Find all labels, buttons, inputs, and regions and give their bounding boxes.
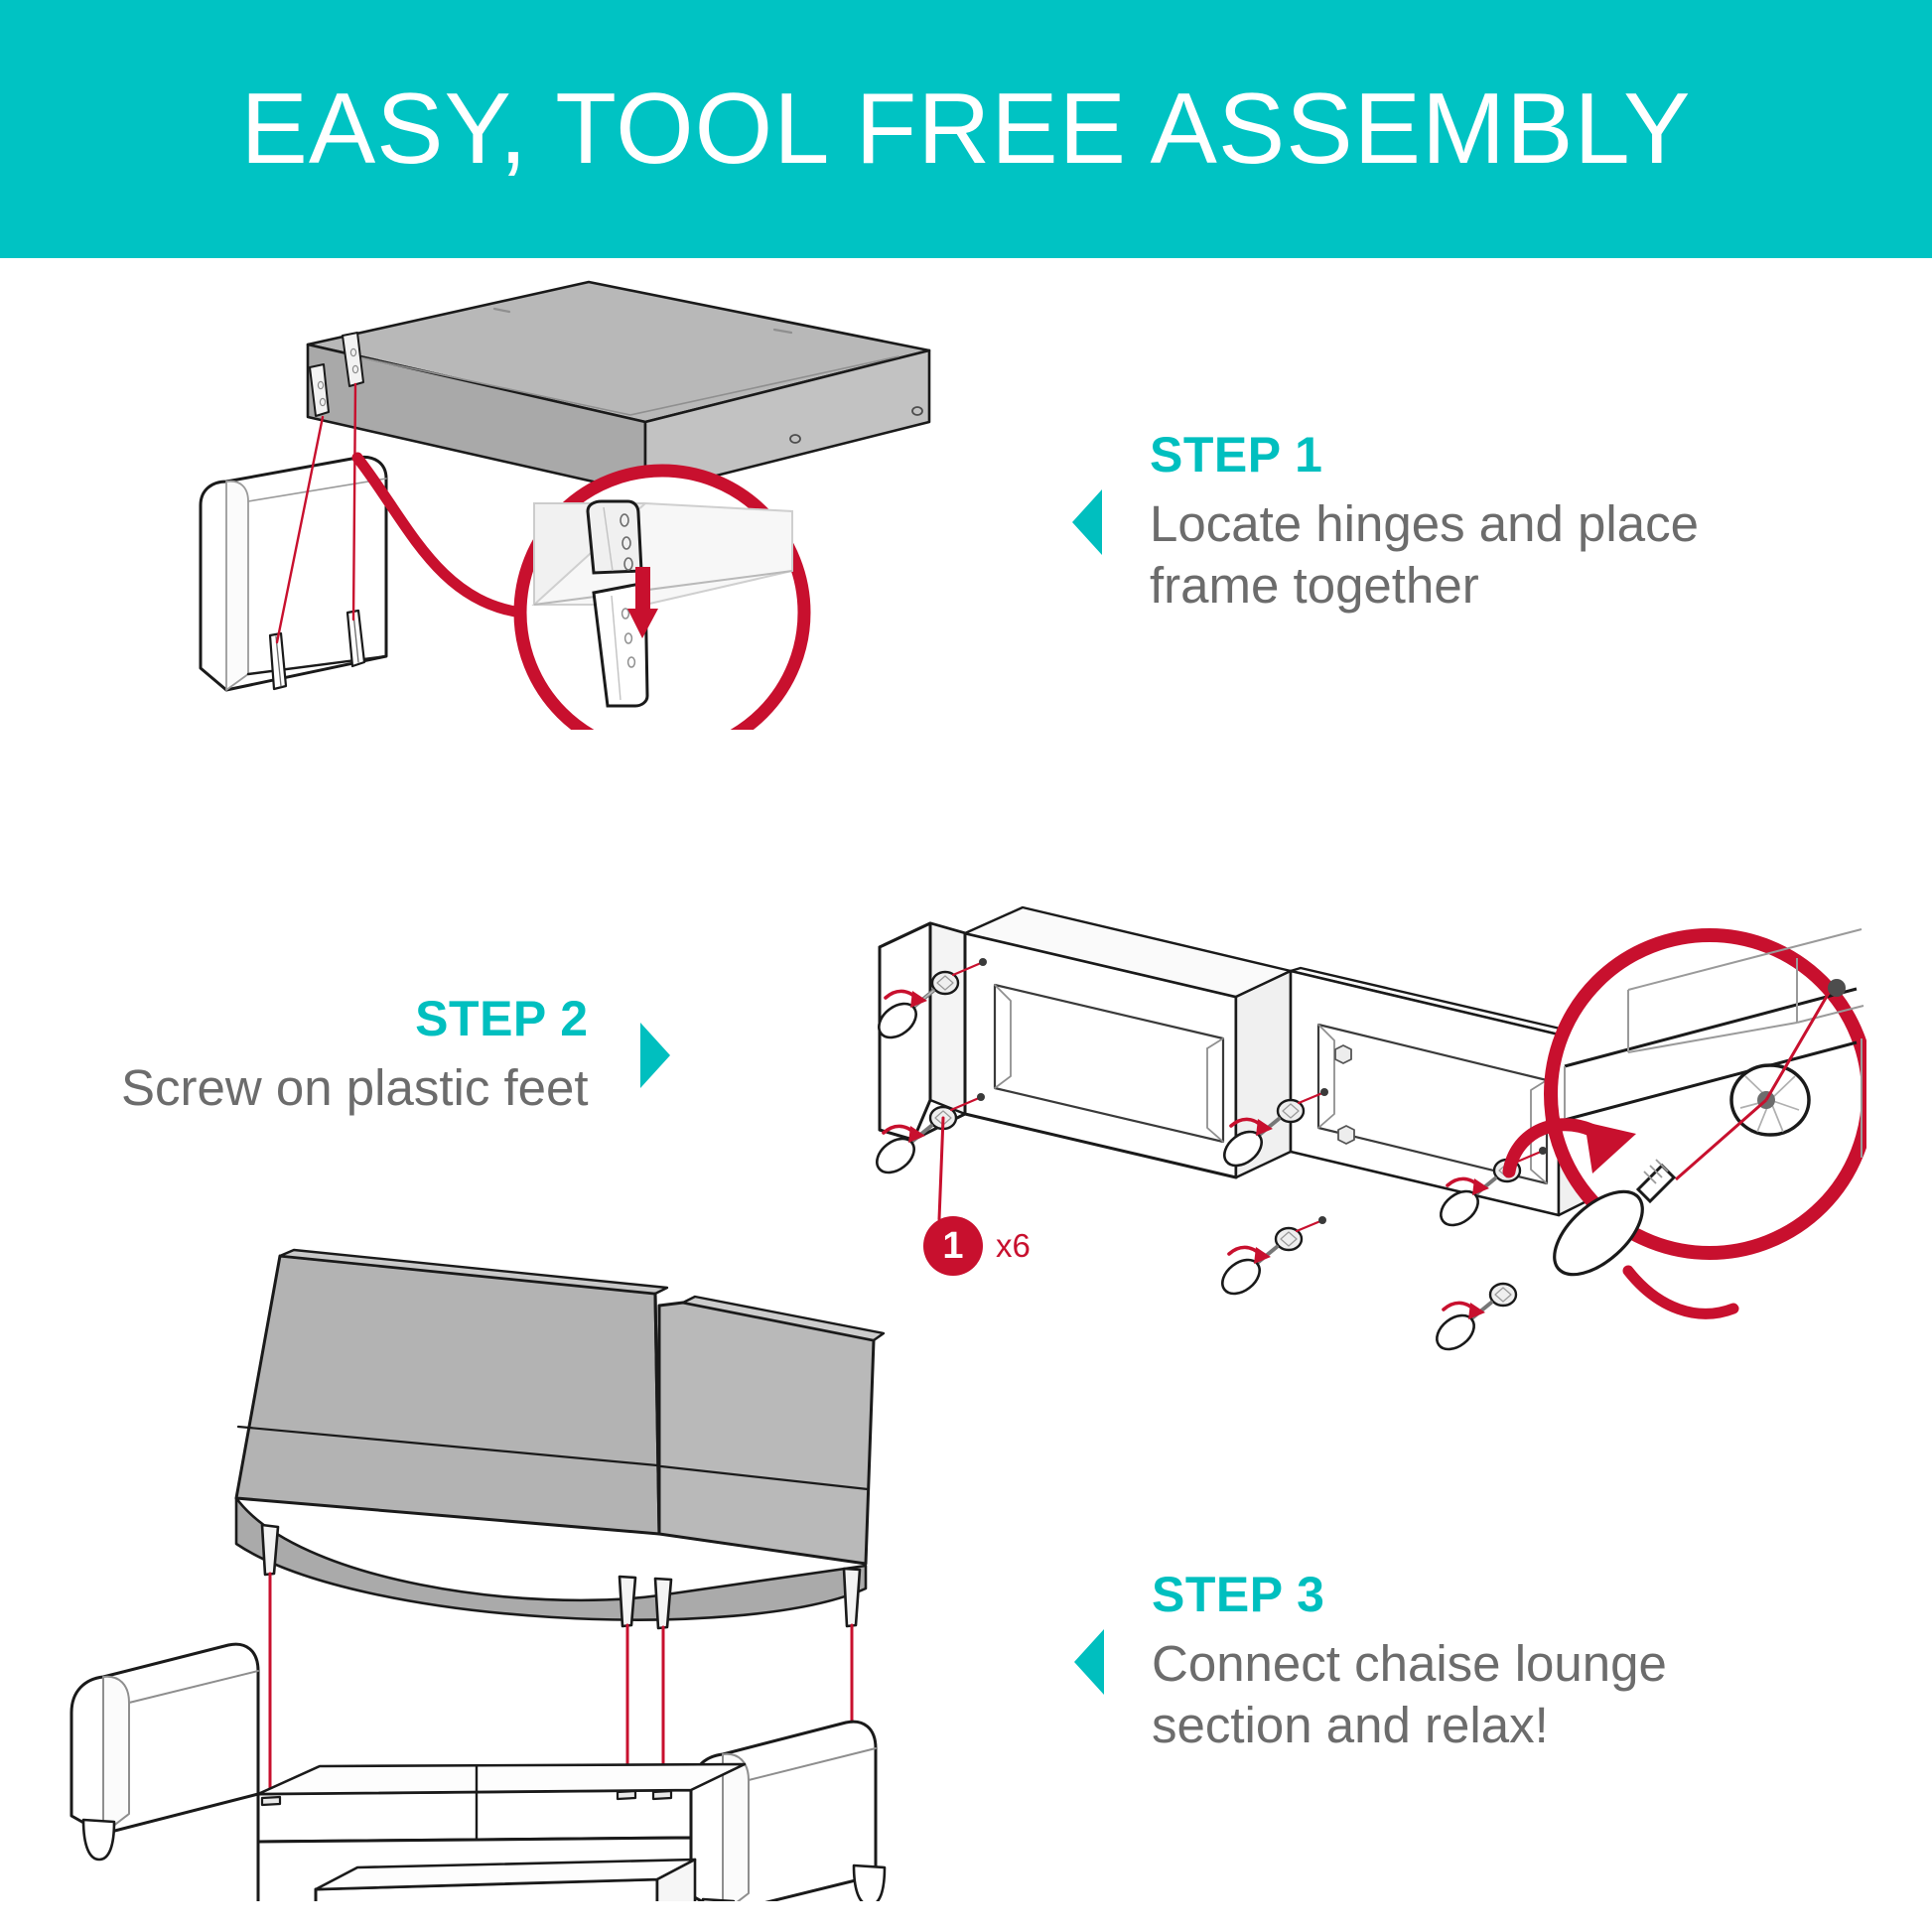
step2-heading: STEP 2 <box>121 993 589 1045</box>
triangle-left-icon <box>1074 1629 1104 1695</box>
step3-body: Connect chaise lounge section and relax! <box>1152 1633 1667 1756</box>
step2-text-block: STEP 2 Screw on plastic feet <box>121 993 670 1119</box>
screw-hole <box>1828 979 1846 997</box>
triangle-left-icon <box>1072 489 1102 555</box>
header-banner: EASY, TOOL FREE ASSEMBLY <box>0 0 1932 258</box>
page-title: EASY, TOOL FREE ASSEMBLY <box>240 79 1691 180</box>
step2-body: Screw on plastic feet <box>121 1057 589 1119</box>
plastic-foot <box>1431 1284 1516 1356</box>
triangle-right-icon <box>640 1023 670 1088</box>
step3-heading: STEP 3 <box>1152 1569 1667 1621</box>
step2-magnifier-callout <box>1509 929 1866 1313</box>
step3-text-block: STEP 3 Connect chaise lounge section and… <box>1074 1569 1667 1756</box>
sofa-base <box>71 1644 885 1901</box>
part-badge-1: 1 x6 <box>923 1216 1031 1276</box>
plastic-foot <box>1216 1228 1302 1301</box>
badge-leader-line <box>939 1118 943 1219</box>
frame-box <box>308 282 929 493</box>
step3-illustration <box>60 1246 933 1901</box>
step1-magnifier-callout <box>520 471 804 730</box>
part-badge-quantity: x6 <box>996 1227 1031 1265</box>
step2-illustration <box>874 864 1866 1380</box>
step1-body: Locate hinges and place frame together <box>1150 493 1699 617</box>
backrest-assembly <box>236 1250 884 1620</box>
step1-illustration <box>179 273 973 730</box>
step1-heading: STEP 1 <box>1150 429 1699 482</box>
installed-plastic-foot <box>1731 1065 1809 1135</box>
step1-text-block: STEP 1 Locate hinges and place frame tog… <box>1072 429 1699 617</box>
